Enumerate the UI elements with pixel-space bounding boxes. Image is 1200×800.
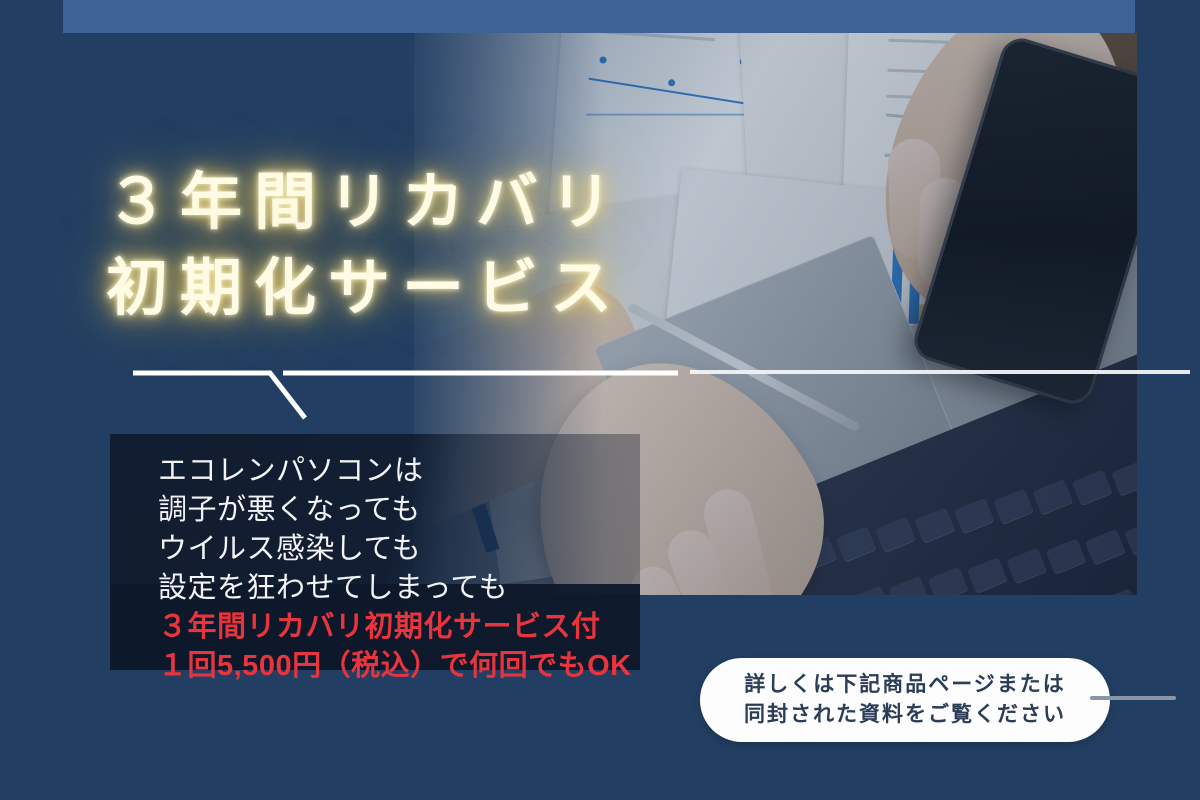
banner-canvas: ３年間リカバリ初期化サービス エコレンパソコンは 調子が悪くなっても ウイルス感… bbox=[0, 0, 1200, 800]
description-red-text: ３年間リカバリ初期化サービス付１回5,500円（税込）で何回でもOK bbox=[158, 608, 778, 686]
top-accent-band bbox=[63, 0, 1135, 33]
description-white-text: エコレンパソコンは 調子が悪くなっても ウイルス感染しても 設定を狂わせてしまっ… bbox=[158, 452, 758, 608]
description-red-line-2: １回5,500円（税込）で何回でもOK bbox=[158, 650, 632, 682]
headline-line-2: 初期化サービス bbox=[106, 254, 624, 323]
headline-line-1: ３年間リカバリ bbox=[106, 168, 624, 237]
callout-line-2: 同封された資料をご覧ください bbox=[744, 703, 1066, 726]
description-red-line-1: ３年間リカバリ初期化サービス付 bbox=[158, 611, 601, 643]
elbow-line-left bbox=[133, 373, 305, 418]
description-panel: エコレンパソコンは 調子が悪くなっても ウイルス感染しても 設定を狂わせてしまっ… bbox=[110, 434, 640, 670]
callout-line-1: 詳しくは下記商品ページまたは bbox=[744, 673, 1066, 696]
callout-tail-line bbox=[1090, 696, 1176, 700]
headline: ３年間リカバリ初期化サービス bbox=[106, 160, 866, 332]
callout-text: 詳しくは下記商品ページまたは同封された資料をご覧ください bbox=[744, 670, 1066, 730]
callout-pill[interactable]: 詳しくは下記商品ページまたは同封された資料をご覧ください bbox=[700, 658, 1110, 742]
